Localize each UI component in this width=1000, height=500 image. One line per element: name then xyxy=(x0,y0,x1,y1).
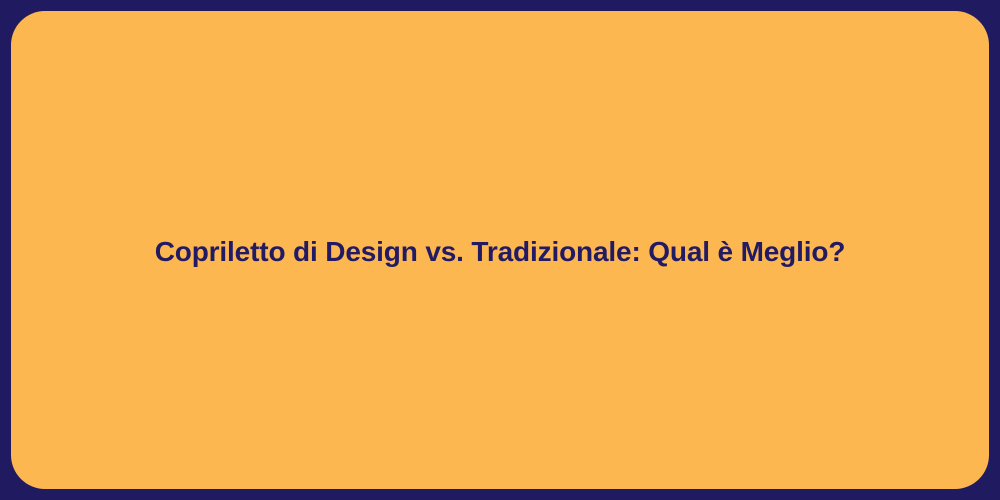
banner-stage: Copriletto di Design vs. Tradizionale: Q… xyxy=(0,0,1000,500)
banner-content: Copriletto di Design vs. Tradizionale: Q… xyxy=(11,234,989,269)
banner-title: Copriletto di Design vs. Tradizionale: Q… xyxy=(155,234,846,269)
banner-panel: Copriletto di Design vs. Tradizionale: Q… xyxy=(11,11,989,489)
